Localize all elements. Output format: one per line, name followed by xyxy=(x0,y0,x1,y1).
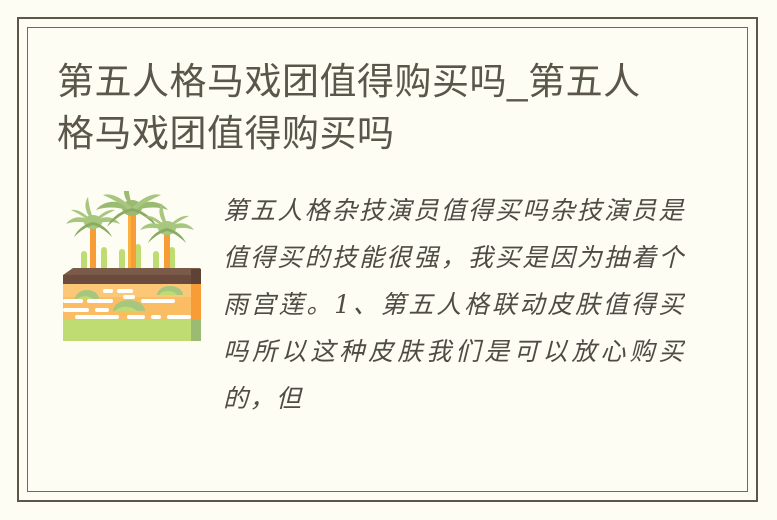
page-title: 第五人格马戏团值得购买吗_第五人格马戏团值得购买吗 xyxy=(57,56,657,160)
article-thumbnail[interactable] xyxy=(57,191,207,341)
article-content: 第五人格马戏团值得购买吗_第五人格马戏团值得购买吗 xyxy=(57,56,685,480)
oasis-illustration-icon xyxy=(57,191,207,341)
article-body: 第五人格杂技演员值得买吗杂技演员是值得买的技能很强，我买是因为抽着个雨宫莲。1、… xyxy=(57,191,685,422)
page-frame: 第五人格马戏团值得购买吗_第五人格马戏团值得购买吗 xyxy=(17,17,758,502)
article-excerpt: 第五人格杂技演员值得买吗杂技演员是值得买的技能很强，我买是因为抽着个雨宫莲。1、… xyxy=(223,187,685,422)
